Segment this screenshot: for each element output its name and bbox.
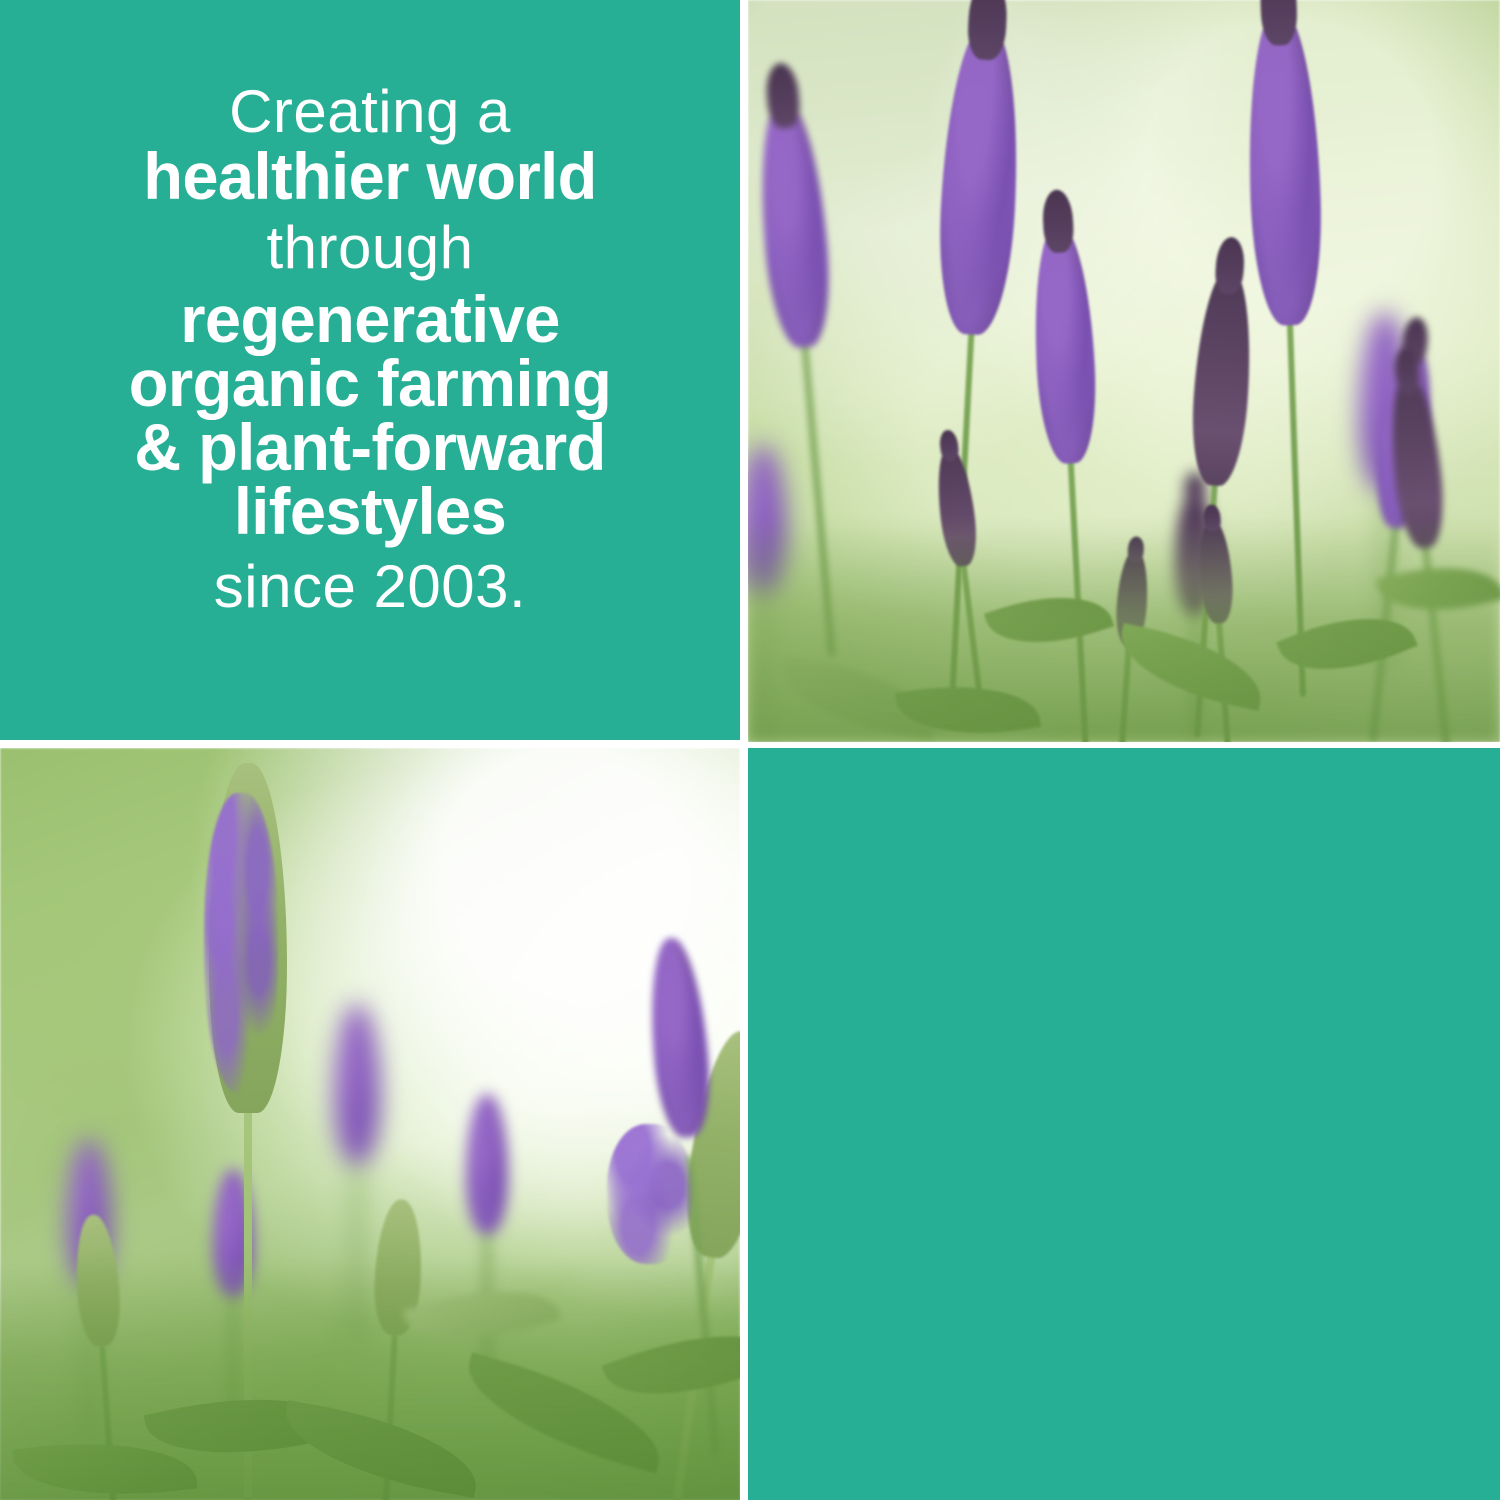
mission-panel: Creating a healthier world through regen… <box>0 0 740 740</box>
chia-sage-photo <box>0 748 740 1500</box>
certification-badge-grid: Certified B ® Corporation <box>748 748 1500 1500</box>
mission-line-2: healthier world <box>35 143 705 211</box>
photo-foreground-shadow <box>748 519 1500 742</box>
hero-flower-petals <box>204 793 278 1093</box>
mission-line-1: Creating a <box>30 78 710 145</box>
mission-statement: Creating a healthier world through regen… <box>0 78 740 628</box>
chia-photo-canvas <box>0 748 740 1500</box>
mission-line-7: lifestyles <box>35 478 705 546</box>
brand-mission-collage: Creating a healthier world through regen… <box>0 0 1500 1500</box>
mission-line-4: regenerative <box>35 286 705 354</box>
certifications-panel: Certified B ® Corporation <box>748 748 1500 1500</box>
salvia-photo-canvas <box>748 0 1500 742</box>
mission-line-3: through <box>30 211 710 284</box>
mission-line-5: organic farming <box>35 350 705 418</box>
photo-foreground-shadow <box>0 1259 740 1500</box>
mission-line-6: & plant-forward <box>35 414 705 482</box>
mission-line-8: since 2003. <box>30 546 710 628</box>
salvia-field-photo <box>748 0 1500 742</box>
